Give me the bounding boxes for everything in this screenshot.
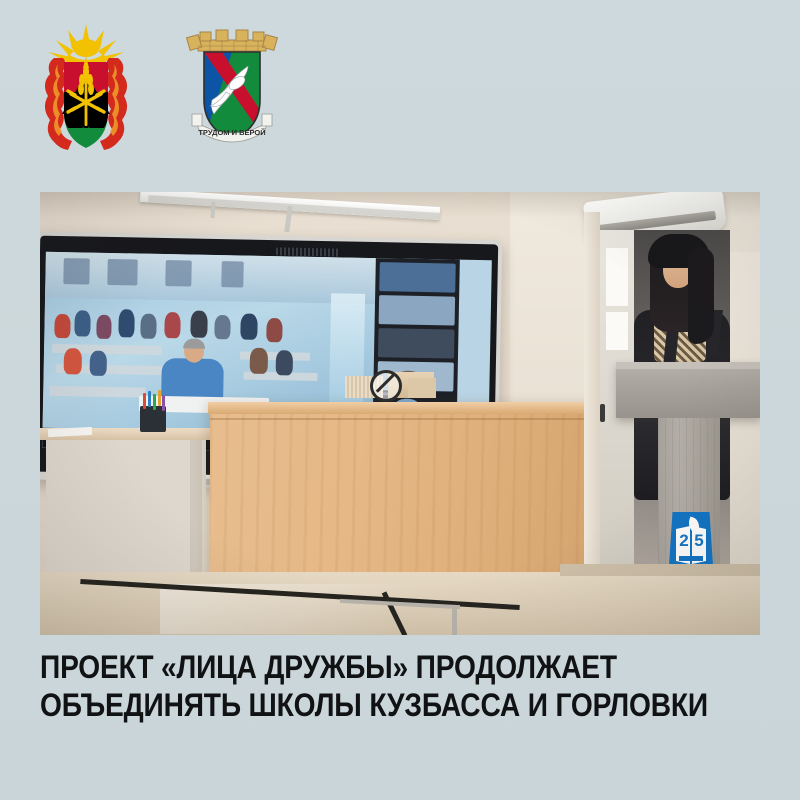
photo-vignette — [40, 192, 760, 635]
caption-line-2: ОБЪЕДИНЯТЬ ШКОЛЫ КУЗБАССА И ГОРЛОВКИ — [40, 686, 674, 724]
kuzbass-coat-of-arms-icon — [38, 22, 134, 152]
caption-block: ПРОЕКТ «ЛИЦА ДРУЖБЫ» ПРОДОЛЖАЕТ ОБЪЕДИНЯ… — [40, 648, 760, 724]
kuzbass-coat-of-arms — [38, 22, 134, 157]
emblem-row: ТРУДОМ И ВЕРОЙ — [38, 22, 282, 162]
gorlovka-coat-of-arms-icon: ТРУДОМ И ВЕРОЙ — [182, 22, 282, 154]
gorlovka-coat-of-arms: ТРУДОМ И ВЕРОЙ — [182, 22, 282, 159]
gorlovka-motto: ТРУДОМ И ВЕРОЙ — [198, 128, 265, 137]
news-card: ТРУДОМ И ВЕРОЙ — [0, 0, 800, 800]
caption-line-1: ПРОЕКТ «ЛИЦА ДРУЖБЫ» ПРОДОЛЖАЕТ — [40, 648, 674, 686]
news-photo: 2 5 — [40, 192, 760, 635]
